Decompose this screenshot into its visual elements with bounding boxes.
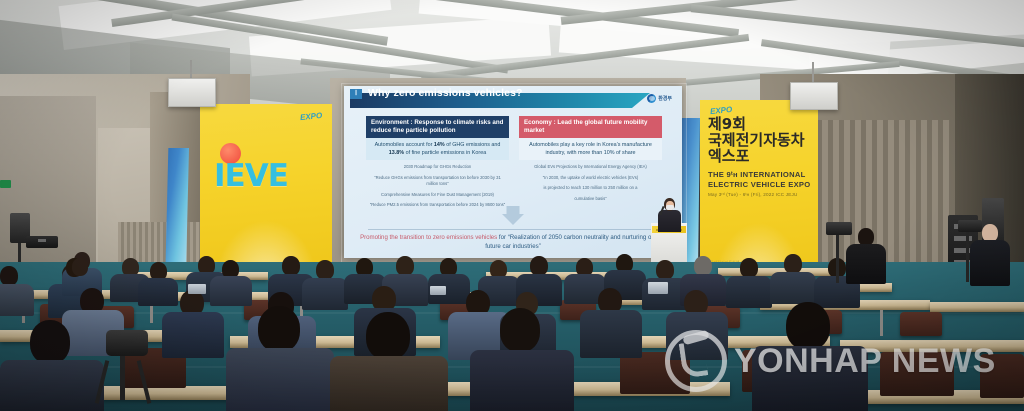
person-head	[530, 256, 548, 276]
column-note: “Reduce GHGs emissions from transportati…	[366, 171, 509, 188]
yonhap-logo-icon	[665, 330, 727, 392]
speaker-mount-rod	[812, 62, 814, 84]
person-head	[784, 254, 802, 274]
person-body	[302, 278, 348, 310]
video-camera-icon	[958, 220, 982, 232]
slide-summary: Promoting the transition to zero emissio…	[360, 233, 666, 251]
rack-indicator	[38, 239, 46, 242]
person-head	[656, 260, 674, 280]
laptop	[648, 282, 668, 294]
person-head	[316, 260, 334, 280]
column-note: “In 2030, the uptake of world electric v…	[519, 171, 662, 182]
tripod	[966, 232, 969, 282]
video-camera-icon	[826, 222, 852, 235]
column-note: 2030 Roadmap for GHGs Reduction	[366, 160, 509, 171]
person-body	[580, 310, 642, 358]
slide-column-environment: Environment : Response to climate risks …	[366, 116, 509, 209]
column-heading: Economy : Lead the global future mobilit…	[519, 116, 662, 138]
slide-column-economy: Economy : Lead the global future mobilit…	[519, 116, 662, 209]
column-note: “Reduce PM2.5 emissions from transportat…	[366, 198, 509, 209]
person-head	[0, 266, 18, 286]
person-body	[770, 272, 816, 304]
highlight-pre: Automobiles account for	[375, 142, 434, 148]
column-note: is projected to reach 130 million to 250…	[519, 181, 662, 192]
person-head	[258, 306, 300, 352]
tripod	[120, 356, 125, 400]
highlight-post: of fine particle emissions in Korea	[404, 150, 486, 156]
column-highlight: Automobiles account for 14% of GHG emiss…	[366, 138, 509, 160]
watermark: YONHAP NEWS	[665, 330, 1015, 392]
tripod	[836, 235, 839, 283]
person-head	[366, 312, 410, 360]
highlight-value-2: 13.8%	[389, 150, 404, 156]
video-camera-icon	[106, 330, 148, 356]
person-head	[740, 258, 758, 278]
banner-korean-title: 제9회 국제전기자동차 엑스포	[708, 116, 812, 164]
person-body	[0, 360, 104, 411]
column-heading: Environment : Response to climate risks …	[366, 116, 509, 138]
laptop	[430, 286, 446, 295]
column-note: Global EVs Projections by International …	[519, 160, 662, 171]
banner-english-line2: ELECTRIC VEHICLE EXPO	[708, 180, 812, 190]
person-head	[694, 256, 712, 276]
banner-left-ieve: EXPO IEVE	[200, 104, 332, 284]
banner-date-line: May 3ʳᵈ (Tue) - 6ᵗʜ (Fri), 2022 ICC JEJU	[708, 192, 812, 197]
rack-indicator	[954, 236, 972, 241]
exit-sign-icon	[0, 180, 11, 188]
hanging-speaker-icon	[168, 78, 216, 107]
expo-wordmark-icon: EXPO	[299, 111, 322, 122]
laptop	[188, 284, 206, 294]
person-body	[226, 348, 334, 411]
summary-rest: for “Realization of 2050 carbon neutrali…	[485, 234, 666, 250]
person-head	[72, 258, 88, 276]
banner-english-line1: THE 9ᵗʜ INTERNATIONAL	[708, 170, 812, 180]
person-body	[138, 278, 178, 306]
hanging-speaker-icon	[790, 82, 838, 110]
watermark-text: YONHAP NEWS	[734, 342, 996, 381]
person-head	[30, 320, 70, 364]
ieve-logo: IEVE	[214, 156, 314, 196]
highlight-mid: of GHG emissions and	[445, 142, 501, 148]
government-logo-label: 환경부	[658, 95, 672, 102]
slide-divider	[368, 229, 660, 230]
column-highlight: Automobiles play a key role in Korea’s m…	[519, 138, 662, 160]
person-body	[330, 356, 448, 411]
person-head	[396, 256, 414, 276]
person-body	[210, 276, 252, 306]
speaker-mount-rod	[190, 60, 192, 80]
projection-screen: Ⅰ Why zero emissions vehicles? 환경부 Envir…	[344, 86, 682, 258]
person-body	[162, 312, 224, 358]
face-mask-icon	[666, 205, 674, 210]
column-note: Comprehensive Measures for Fine Dust Man…	[366, 188, 509, 199]
person-body	[970, 240, 1010, 286]
slide-columns: Environment : Response to climate risks …	[366, 116, 662, 209]
table	[930, 302, 1024, 312]
down-arrow-icon	[502, 214, 524, 225]
highlight-value-1: 14%	[434, 142, 445, 148]
person-head	[500, 308, 540, 352]
person-body	[846, 244, 886, 284]
summary-emphasis: Promoting the transition to zero emissio…	[360, 234, 497, 241]
conference-hall-photo: EXPO IEVE EXPO 제9회 국제전기자동차 엑스포 THE 9ᵗʜ I…	[0, 0, 1024, 411]
government-logo: 환경부	[647, 94, 672, 103]
person-body	[470, 350, 574, 411]
slide-section-number: Ⅰ	[350, 89, 362, 99]
presenter-body	[658, 210, 681, 232]
person-body	[0, 284, 34, 316]
taegeuk-icon	[647, 94, 656, 103]
person-body	[726, 276, 772, 308]
ieve-logo-text: IEVE	[214, 158, 288, 194]
person-head	[282, 256, 300, 276]
column-note: cumulative basis”	[519, 192, 662, 203]
slide-title: Why zero emissions vehicles?	[368, 87, 523, 99]
av-equipment-rack	[26, 236, 58, 248]
